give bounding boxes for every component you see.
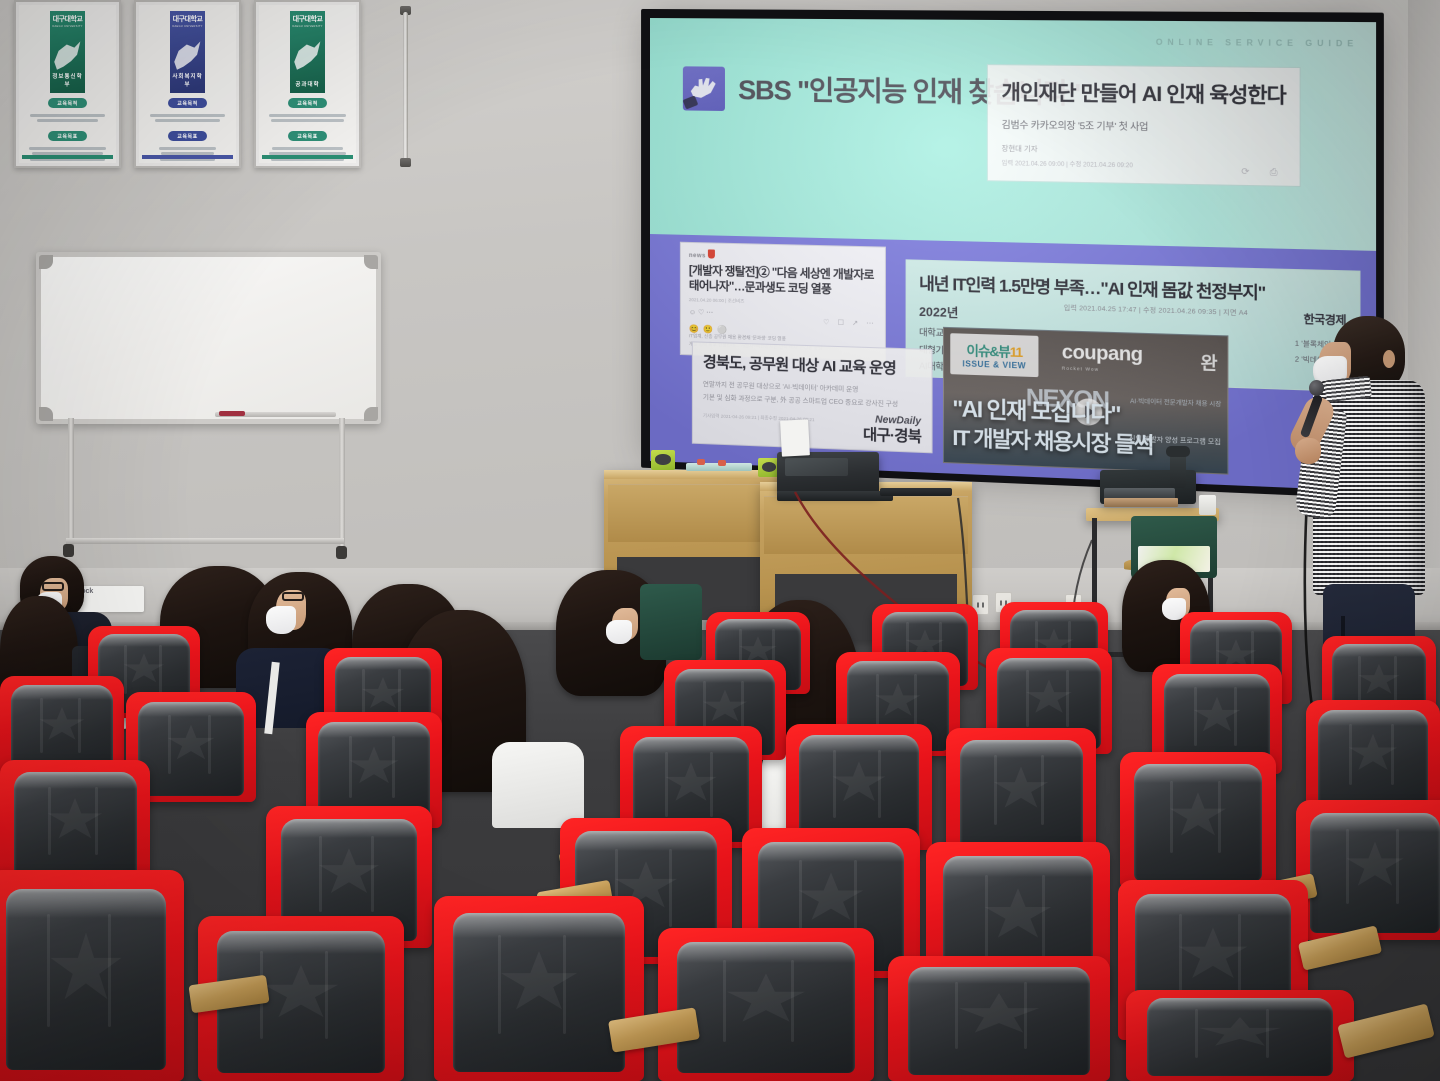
dev-brand-label: news xyxy=(689,253,706,259)
gb-headline: 경북도, 공무원 대상 AI 교육 운영 xyxy=(703,351,921,380)
green-backpack xyxy=(640,584,702,660)
pressed-garment xyxy=(1104,498,1178,507)
red-marker[interactable] xyxy=(697,459,705,465)
robot-hand-icon xyxy=(683,66,725,111)
poster-department: 사회복지학부 xyxy=(170,72,205,88)
tape-dispenser-left[interactable] xyxy=(651,450,675,470)
printer-output-tray xyxy=(880,488,952,496)
video-title-line-2: IT 개발자 채용시장 들썩 xyxy=(952,421,1152,460)
dolphin-icon xyxy=(294,39,321,78)
whiteboard-crossbar xyxy=(66,538,344,544)
kakao-subhead: 김범수 카카오의장 '5조 기부' 첫 사업 xyxy=(1002,117,1286,136)
sponsor-coupang-logo: coupang Rocket Wow xyxy=(1062,342,1143,374)
whiteboard xyxy=(36,252,381,424)
door-pull-handle[interactable] xyxy=(400,6,412,174)
kakao-byline: 장현대 기자 xyxy=(1002,143,1286,158)
auditorium-seat[interactable] xyxy=(946,728,1096,858)
red-marker[interactable] xyxy=(718,460,726,466)
auditorium-seat[interactable] xyxy=(0,760,150,888)
whiteboard-caster-right xyxy=(336,546,347,559)
poster-goal-text xyxy=(147,144,228,163)
badge-line-2: ISSUE & VIEW xyxy=(962,359,1026,370)
projection-screen: ONLINE SERVICE GUIDE SBS "인공지능 인재 찾습니다" … xyxy=(650,18,1376,491)
auditorium-seat-front[interactable] xyxy=(1126,990,1354,1081)
brand-mark-icon xyxy=(708,249,715,258)
poster-objective-pill: 교육목적 xyxy=(168,98,206,108)
wall-poster-2: 대구대학교 DAEGU UNIVERSITY 사회복지학부 교육목적 교육목표 xyxy=(134,0,241,168)
poster-university-roman: DAEGU UNIVERSITY xyxy=(172,25,202,28)
inkjet-printer[interactable] xyxy=(777,452,879,494)
slide-watermark: ONLINE SERVICE GUIDE xyxy=(1156,38,1358,49)
whiteboard-marker[interactable] xyxy=(219,411,245,416)
student-face-mask xyxy=(266,606,296,634)
badge-line-1: 이슈&뷰 xyxy=(966,343,1009,360)
poster-department: 공과대학 xyxy=(290,80,325,88)
small-box xyxy=(1199,495,1216,515)
poster-university-roman: DAEGU UNIVERSITY xyxy=(292,25,322,28)
wall-poster-3: 대구대학교 DAEGU UNIVERSITY 공과대학 교육목적 교육목표 xyxy=(254,0,361,168)
auditorium-seat[interactable] xyxy=(1296,800,1440,940)
poster-goals-pill: 교육목표 xyxy=(48,131,86,141)
poster-goal-text xyxy=(27,144,108,163)
auditorium-seat-front[interactable] xyxy=(658,928,874,1081)
coupang-tagline: Rocket Wow xyxy=(1062,366,1143,374)
student-white-shirt xyxy=(492,742,584,828)
printed-paper[interactable] xyxy=(780,419,810,456)
auditorium-seat-front[interactable] xyxy=(0,870,184,1081)
poster-university-name: 대구대학교 xyxy=(53,16,83,23)
presenter-ear xyxy=(1383,350,1395,368)
poster-goal-text xyxy=(267,144,348,163)
poster-objective-text xyxy=(147,111,228,124)
video-side-text: AI·빅데이터 전문개발자 채용 시장 xyxy=(1130,396,1221,409)
whiteboard-leg-right xyxy=(339,418,345,548)
auditorium-seat[interactable] xyxy=(1120,752,1276,888)
kakao-headline: 개인재단 만들어 AI 인재 육성한다 xyxy=(1002,76,1286,109)
poster-goals-pill: 교육목표 xyxy=(168,131,206,141)
poster-objective-pill: 교육목적 xyxy=(288,98,326,108)
badge-number: 11 xyxy=(1010,344,1022,360)
poster-university-name: 대구대학교 xyxy=(173,16,203,23)
news-card-gyeongbuk: 경북도, 공무원 대상 AI 교육 운영 연말까지 전 공무원 대상으로 'AI… xyxy=(692,341,933,453)
eyeglasses xyxy=(42,582,64,591)
wall-poster-1: 대구대학교 DAEGU UNIVERSITY 정보통신학부 교육목적 교육목표 xyxy=(14,0,121,168)
poster-objective-text xyxy=(267,111,348,124)
whiteboard-leg-left xyxy=(68,418,74,546)
sponsor-secondary-logo: 완 xyxy=(1201,348,1217,375)
microphone-head xyxy=(1309,380,1324,396)
it-headline: 내년 IT인력 1.5만명 부족…"AI 인재 몸값 천정부지" xyxy=(919,270,1346,306)
poster-university-roman: DAEGU UNIVERSITY xyxy=(52,25,82,28)
presentation-slide: ONLINE SERVICE GUIDE SBS "인공지능 인재 찾습니다" … xyxy=(650,18,1376,491)
poster-university-name: 대구대학교 xyxy=(293,16,323,23)
dev-headline: [개발자 쟁탈전]② "다음 세상엔 개발자로 태어나자"…문과생도 코딩 열풍 xyxy=(689,264,877,299)
lecture-hall-photo: 대구대학교 DAEGU UNIVERSITY 정보통신학부 교육목적 교육목표 … xyxy=(0,0,1440,1081)
poster-objective-pill: 교육목적 xyxy=(48,98,86,108)
news-card-kakao: 개인재단 만들어 AI 인재 육성한다 김범수 카카오의장 '5조 기부' 첫 … xyxy=(987,64,1301,187)
kakao-action-icons: ⟳ ⎙ xyxy=(1241,166,1286,178)
gb-region: 대구·경북 xyxy=(863,423,921,447)
auditorium-seat-front[interactable] xyxy=(888,956,1110,1081)
student-face-mask xyxy=(606,620,632,644)
eyeglasses xyxy=(282,592,304,601)
poster-department: 정보통신학부 xyxy=(50,72,85,88)
poster-objective-text xyxy=(27,111,108,124)
auditorium-seat[interactable] xyxy=(1306,700,1440,814)
dev-meta: 2021.04.20 06:00 | 조선비즈 xyxy=(689,298,877,309)
presenter-hand xyxy=(1295,438,1321,464)
poster-goals-pill: 교육목표 xyxy=(288,131,326,141)
issue-view-badge: 이슈&뷰11 ISSUE & VIEW xyxy=(950,333,1038,377)
auditorium-seat-front[interactable] xyxy=(434,896,644,1081)
dev-action-icons: ♡ ☐ ↗ ⋯ xyxy=(823,318,877,328)
